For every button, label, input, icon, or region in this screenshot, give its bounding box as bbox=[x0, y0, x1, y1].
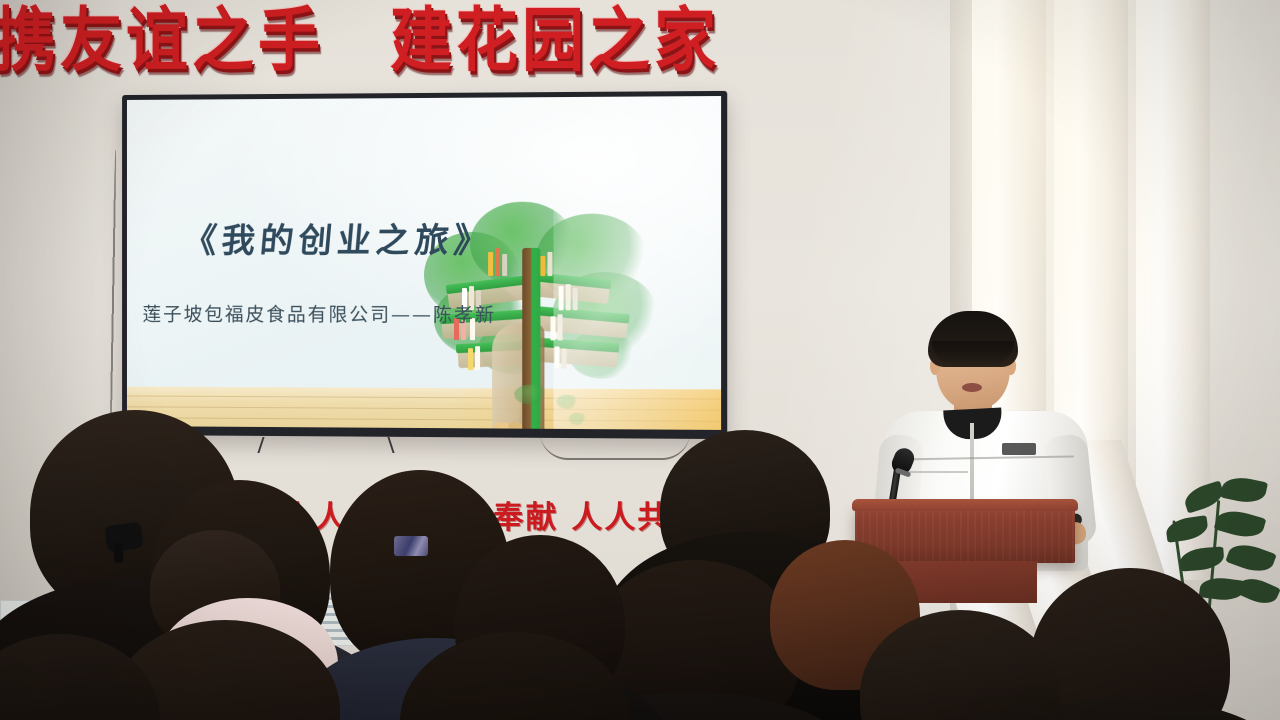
display-screen: 《我的创业之旅》 莲子坡包福皮食品有限公司——陈孝新 bbox=[127, 96, 721, 430]
audience bbox=[0, 420, 1280, 720]
presenter-hair bbox=[928, 311, 1018, 367]
presentation-display[interactable]: 《我的创业之旅》 莲子坡包福皮食品有限公司——陈孝新 bbox=[122, 91, 727, 439]
presenter-mouth bbox=[962, 383, 982, 392]
presentation-room-scene: 携友谊之手 建花园之家 人参与 人人负责 人人奉献 人人共享 bbox=[0, 0, 1280, 720]
slide-subtitle: 莲子坡包福皮食品有限公司——陈孝新 bbox=[143, 300, 497, 328]
hair-bow-accessory bbox=[104, 522, 143, 553]
wall-banner-text: 携友谊之手 建花园之家 bbox=[0, 0, 720, 84]
wall-banner: 携友谊之手 建花园之家 bbox=[0, 0, 900, 72]
slide-title: 《我的创业之旅》 bbox=[182, 213, 496, 262]
hair-clip-accessory bbox=[394, 536, 428, 556]
